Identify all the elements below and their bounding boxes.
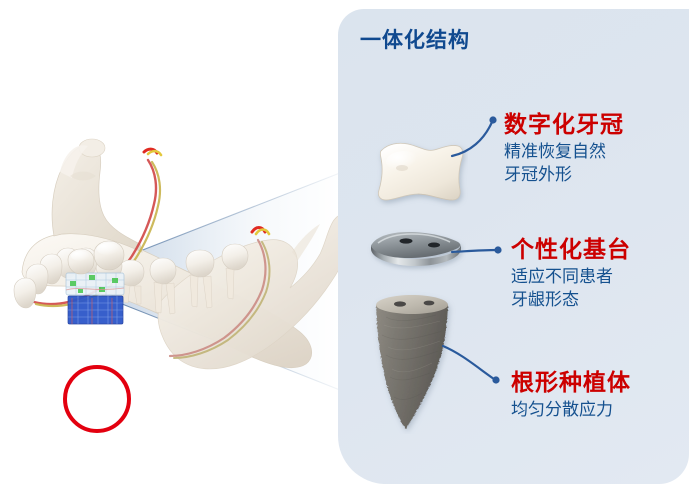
root-form-implant-part (362, 289, 462, 434)
item-subtitle-abutment: 适应不同患者 牙龈形态 (511, 265, 613, 311)
subtitle-line: 牙龈形态 (511, 288, 613, 311)
red-circle-callout (63, 365, 131, 433)
item-heading-crown: 数字化牙冠 (504, 105, 624, 139)
subtitle-line: 适应不同患者 (511, 265, 613, 288)
subtitle-line: 均匀分散应力 (511, 398, 613, 421)
infographic-canvas: 一体化结构 (0, 0, 693, 493)
subtitle-line: 牙冠外形 (504, 163, 606, 186)
mandible-illustration (0, 120, 360, 390)
page-title: 一体化结构 (360, 24, 470, 54)
item-subtitle-crown: 精准恢复自然 牙冠外形 (504, 140, 606, 186)
item-heading-implant: 根形种植体 (511, 363, 631, 397)
item-heading-abutment: 个性化基台 (511, 230, 631, 264)
mandible-model (0, 120, 360, 390)
implant-site-grid (66, 273, 124, 324)
item-subtitle-implant: 均匀分散应力 (511, 398, 613, 421)
custom-abutment-part (366, 228, 466, 274)
digital-crown-part (372, 138, 468, 208)
subtitle-line: 精准恢复自然 (504, 140, 606, 163)
